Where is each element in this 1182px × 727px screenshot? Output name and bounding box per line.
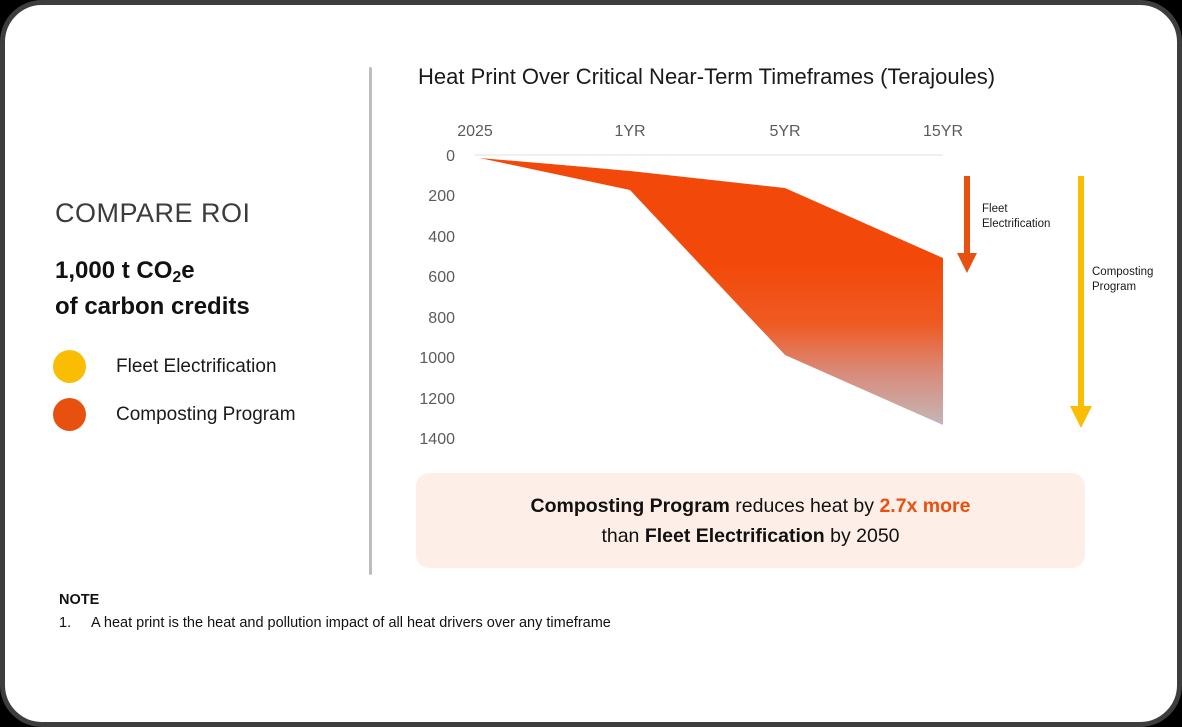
chart-title: Heat Print Over Critical Near-Term Timef… [418,64,995,90]
note-item-number: 1. [59,615,91,631]
callout-bold-composting: Composting Program [531,495,730,517]
callout-accent-multiplier: 2.7x more [879,495,970,517]
legend-item-fleet-electrification[interactable]: Fleet Electrification [53,350,277,383]
headline-line-2: of carbon credits [55,290,250,323]
fleet-electrification-arrow-icon [957,176,977,273]
co2-subscript: 2 [172,269,181,286]
arrow-label-composting-program: Composting Program [1092,265,1153,295]
legend-item-composting-program[interactable]: Composting Program [53,398,296,431]
legend-dot-icon [53,350,86,383]
callout-line-1: Composting Program reduces heat by 2.7x … [531,491,971,521]
left-panel: COMPARE ROI 1,000 t CO2e of carbon credi… [5,5,371,585]
callout-line2-post: by 2050 [825,525,900,547]
note-item-text: A heat print is the heat and pollution i… [91,615,611,631]
page-title: COMPARE ROI [55,198,251,229]
headline-unit-suffix: e [181,257,194,284]
headline-credits-amount: 1,000 t CO [55,257,172,284]
insight-callout: Composting Program reduces heat by 2.7x … [416,473,1085,568]
headline-line-1: 1,000 t CO2e [55,254,250,290]
callout-line2-pre: than [601,525,644,547]
callout-mid-text: reduces heat by [730,495,880,517]
note-heading: NOTE [59,592,99,608]
composting-program-arrow-icon [1070,176,1092,428]
chart-plot-area: 2025 1YR 5YR 15YR 0 200 400 600 800 1000… [405,110,1005,455]
area-band-graphic [405,110,1005,455]
legend-dot-icon [53,398,86,431]
callout-bold-fleet: Fleet Electrification [645,525,825,547]
vertical-divider [369,67,372,575]
legend-label: Fleet Electrification [116,356,277,378]
arrow-label-line-1: Composting [1092,265,1153,280]
legend-label: Composting Program [116,404,296,426]
arrow-label-line-2: Electrification [982,217,1050,232]
arrow-label-line-1: Fleet [982,202,1050,217]
arrow-label-fleet-electrification: Fleet Electrification [982,202,1050,232]
slide-canvas: COMPARE ROI 1,000 t CO2e of carbon credi… [0,0,1182,727]
band-area-path [475,157,943,425]
headline: 1,000 t CO2e of carbon credits [55,254,250,323]
arrow-label-line-2: Program [1092,280,1153,295]
callout-line-2: than Fleet Electrification by 2050 [601,521,899,551]
note-item: 1.A heat print is the heat and pollution… [59,615,611,631]
